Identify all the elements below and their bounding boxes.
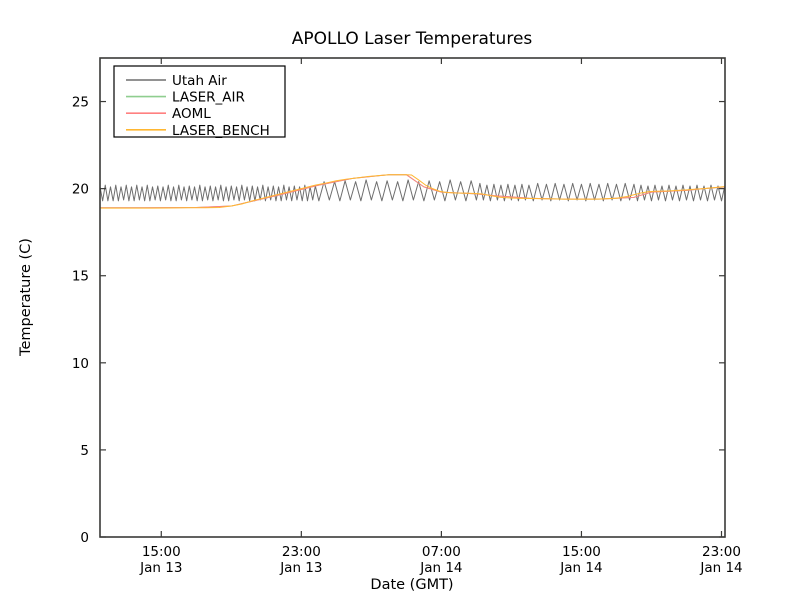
legend-label-laser-air: LASER_AIR [172, 90, 245, 106]
y-tick-label: 10 [72, 356, 89, 372]
x-tick-label-date: Jan 14 [699, 560, 742, 576]
legend-label-laser-bench: LASER_BENCH [172, 123, 270, 139]
legend-label-utah-air: Utah Air [172, 73, 227, 89]
legend-label-aoml: AOML [172, 106, 211, 122]
y-axis-label: Temperature (C) [18, 238, 34, 357]
chart-legend[interactable]: Utah AirLASER_AIRAOMLLASER_BENCH [114, 66, 285, 139]
x-tick-label-time: 15:00 [562, 544, 601, 560]
chart-title: APOLLO Laser Temperatures [292, 29, 533, 49]
x-tick-label-date: Jan 14 [559, 560, 602, 576]
x-axis-label: Date (GMT) [370, 577, 453, 593]
y-tick-label: 20 [72, 182, 89, 198]
x-tick-label-date: Jan 13 [279, 560, 322, 576]
y-tick-label: 15 [72, 269, 89, 285]
x-tick-label-date: Jan 13 [139, 560, 182, 576]
x-tick-label-time: 23:00 [282, 544, 321, 560]
y-tick-label: 0 [80, 530, 89, 546]
x-tick-label-time: 07:00 [422, 544, 461, 560]
figure-canvas: APOLLO Laser Temperatures 0510152025 15:… [0, 0, 800, 600]
x-tick-label-time: 15:00 [142, 544, 181, 560]
temperature-line-chart: APOLLO Laser Temperatures 0510152025 15:… [0, 0, 800, 600]
y-tick-label: 25 [72, 95, 89, 111]
y-tick-label: 5 [80, 443, 89, 459]
x-tick-label-time: 23:00 [702, 544, 741, 560]
x-tick-label-date: Jan 14 [419, 560, 462, 576]
